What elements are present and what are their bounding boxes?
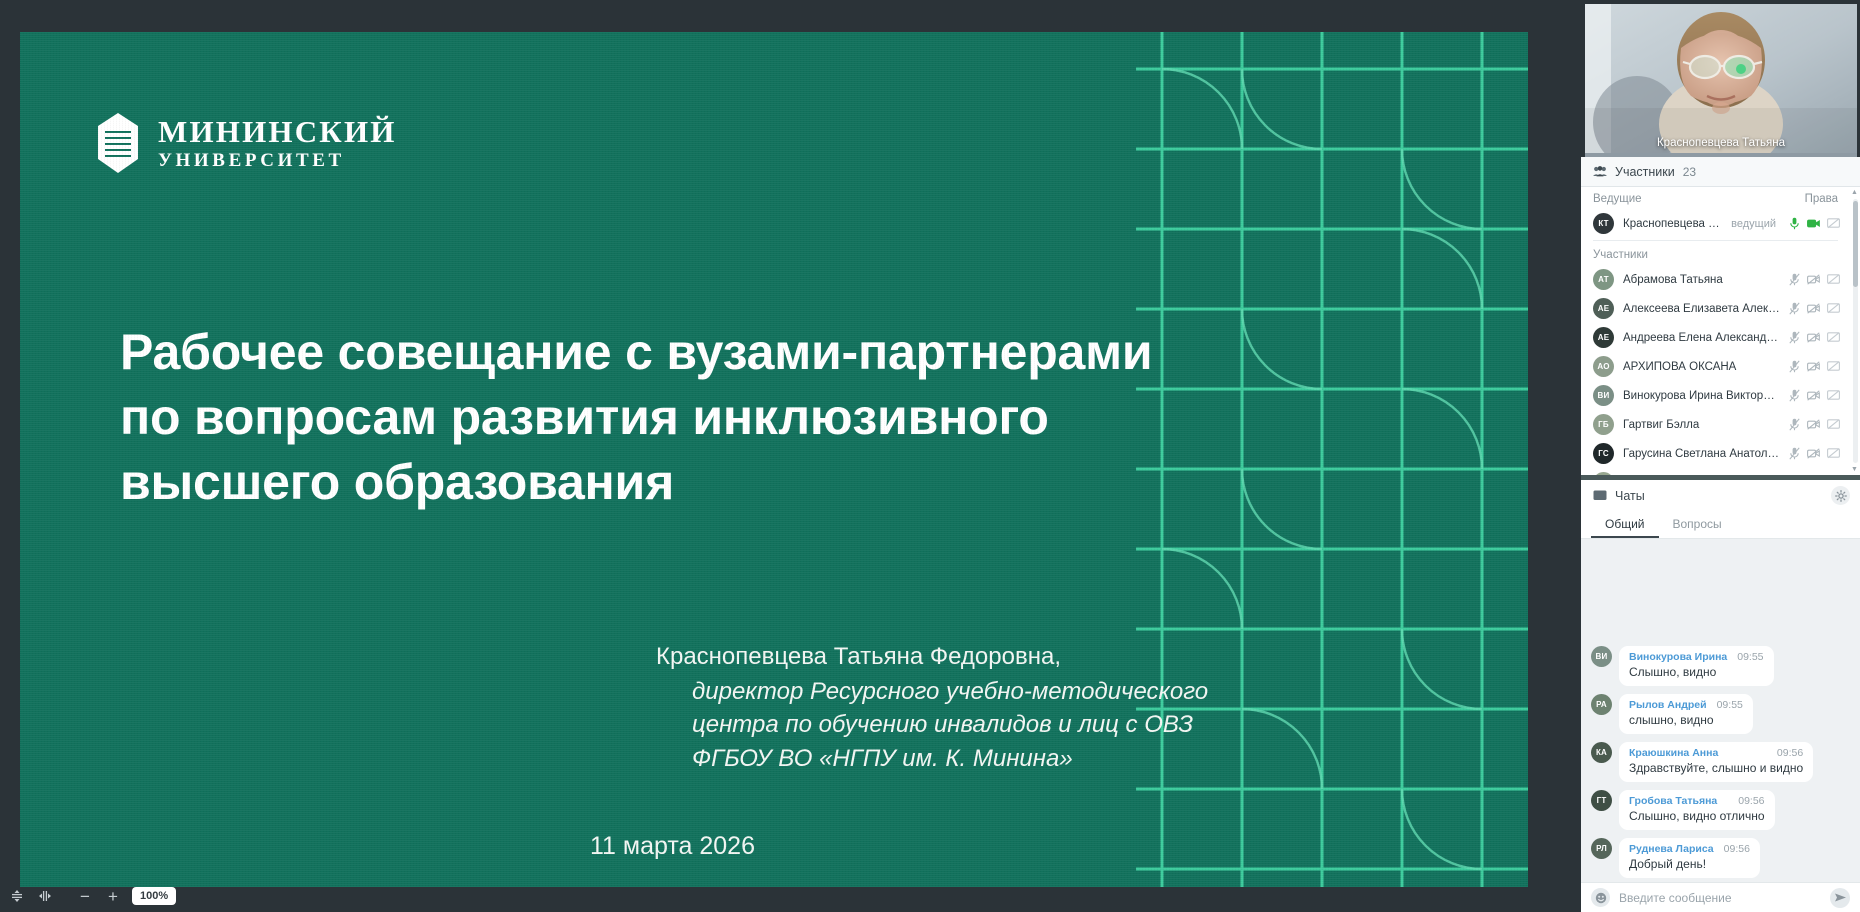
message-bubble: Руднева Лариса 09:56 Добрый день! <box>1619 838 1760 878</box>
message-time: 09:56 <box>1724 843 1750 855</box>
chat-header: Чаты <box>1581 480 1860 511</box>
scrollbar-thumb[interactable] <box>1853 201 1858 287</box>
mic-off-icon[interactable] <box>1789 418 1800 431</box>
chat-icon <box>1593 490 1607 502</box>
avatar: АЕ <box>1593 298 1614 319</box>
fit-width-icon[interactable] <box>34 885 56 907</box>
message-text: Добрый день! <box>1629 857 1750 872</box>
mic-off-icon[interactable] <box>1789 331 1800 344</box>
slide-viewer-toolbar: − + 100% <box>0 880 1580 912</box>
chat-tab-questions[interactable]: Вопросы <box>1659 511 1736 538</box>
participant-row[interactable]: ГА Гемранова Анастасия Дмитриев... <box>1581 468 1850 475</box>
chat-message: РА Рылов Андрей 09:55 слышно, видно <box>1591 694 1850 734</box>
message-author: Гробова Татьяна <box>1629 795 1717 807</box>
emoji-icon[interactable] <box>1591 888 1610 907</box>
participant-name: АРХИПОВА ОКСАНА <box>1623 361 1780 373</box>
chat-message: ГТ Гробова Татьяна 09:56 Слышно, видно о… <box>1591 790 1850 830</box>
participant-name: Гарусина Светлана Анатольевна <box>1623 448 1780 460</box>
message-time: 09:55 <box>1737 651 1763 663</box>
mic-off-icon[interactable] <box>1789 273 1800 286</box>
avatar: АО <box>1593 356 1614 377</box>
message-time: 09:55 <box>1717 699 1743 711</box>
camera-off-icon[interactable] <box>1807 390 1820 401</box>
avatar: РА <box>1591 694 1612 715</box>
right-sidebar: Краснопевцева Татьяна Участники 23 Ведущ… <box>1580 0 1860 912</box>
presenter-name: Краснопевцева Татьяна Федоровна, <box>656 640 1336 674</box>
rights-label: Права <box>1805 193 1838 205</box>
presenter-block: Краснопевцева Татьяна Федоровна, директо… <box>656 640 1336 775</box>
screen-share-off-icon[interactable] <box>1827 218 1840 229</box>
participants-title: Участники <box>1615 165 1675 179</box>
screen-share-off-icon[interactable] <box>1827 390 1840 401</box>
list-divider <box>1593 240 1838 241</box>
message-bubble: Рылов Андрей 09:55 слышно, видно <box>1619 694 1753 734</box>
avatar: АЕ <box>1593 327 1614 348</box>
chat-message: КА Краюшкина Анна 09:56 Здравствуйте, сл… <box>1591 742 1850 782</box>
avatar: ГС <box>1593 443 1614 464</box>
chat-input-row[interactable] <box>1581 882 1860 912</box>
participant-controls[interactable] <box>1789 389 1840 402</box>
participant-name: Абрамова Татьяна <box>1623 274 1780 286</box>
video-tile-name: Краснопевцева Татьяна <box>1585 137 1857 149</box>
participant-name: Алексеева Елизавета Алексеевна <box>1623 303 1780 315</box>
hosts-label: Ведущие <box>1593 193 1642 205</box>
message-bubble: Гробова Татьяна 09:56 Слышно, видно отли… <box>1619 790 1775 830</box>
zoom-in-button[interactable]: + <box>104 888 122 905</box>
mic-off-icon[interactable] <box>1789 302 1800 315</box>
participants-section-members: Участники <box>1581 243 1850 265</box>
mic-off-icon[interactable] <box>1789 360 1800 373</box>
chat-tabs[interactable]: ОбщийВопросы <box>1581 511 1860 539</box>
camera-off-icon[interactable] <box>1807 332 1820 343</box>
message-time: 09:56 <box>1738 795 1764 807</box>
screen-share-off-icon[interactable] <box>1827 274 1840 285</box>
avatar: КА <box>1591 742 1612 763</box>
mic-on-icon[interactable] <box>1789 217 1800 230</box>
camera-off-icon[interactable] <box>1807 303 1820 314</box>
chat-message: РЛ Руднева Лариса 09:56 Добрый день! <box>1591 838 1850 878</box>
gear-icon[interactable] <box>1831 486 1850 505</box>
participant-row[interactable]: АТ Абрамова Татьяна <box>1581 265 1850 294</box>
message-text: слышно, видно <box>1629 713 1743 728</box>
screen-share-off-icon[interactable] <box>1827 303 1840 314</box>
avatar: КТ <box>1593 213 1614 234</box>
participant-row[interactable]: АЕ Андреева Елена Александровна <box>1581 323 1850 352</box>
camera-off-icon[interactable] <box>1807 448 1820 459</box>
participant-row[interactable]: ГС Гарусина Светлана Анатольевна <box>1581 439 1850 468</box>
people-icon <box>1593 166 1607 177</box>
participants-section-hosts: Ведущие Права <box>1581 187 1850 209</box>
camera-off-icon[interactable] <box>1807 419 1820 430</box>
avatar: ВИ <box>1591 646 1612 667</box>
participant-row[interactable]: ГБ Гартвиг Бэлла <box>1581 410 1850 439</box>
message-bubble: Краюшкина Анна 09:56 Здравствуйте, слышн… <box>1619 742 1813 782</box>
participant-row[interactable]: АЕ Алексеева Елизавета Алексеевна <box>1581 294 1850 323</box>
message-time: 09:56 <box>1777 747 1803 759</box>
screen-share-off-icon[interactable] <box>1827 419 1840 430</box>
chat-panel: Чаты ОбщийВопросы ВИ <box>1581 475 1860 912</box>
message-author: Краюшкина Анна <box>1629 747 1718 759</box>
participant-controls[interactable] <box>1789 418 1840 431</box>
send-icon[interactable] <box>1830 888 1850 908</box>
participant-controls[interactable] <box>1789 360 1840 373</box>
participant-role: ведущий <box>1731 218 1776 230</box>
screen-share-off-icon[interactable] <box>1827 332 1840 343</box>
shield-book-emblem <box>96 112 140 174</box>
logo-title: МИНИНСКИЙ <box>158 116 397 148</box>
fit-height-icon[interactable] <box>6 885 28 907</box>
participant-name: Краснопевцева Татья... <box>1623 218 1722 230</box>
message-author: Руднева Лариса <box>1629 843 1714 855</box>
message-text: Слышно, видно <box>1629 665 1764 680</box>
participant-row[interactable]: АО АРХИПОВА ОКСАНА <box>1581 352 1850 381</box>
participant-name: Гартвиг Бэлла <box>1623 419 1780 431</box>
camera-off-icon[interactable] <box>1807 361 1820 372</box>
zoom-level-value[interactable]: 100% <box>132 887 176 905</box>
participant-controls[interactable] <box>1789 447 1840 460</box>
avatar: ВИ <box>1593 385 1614 406</box>
chat-messages[interactable]: ВИ Винокурова Ирина 09:55 Слышно, видно … <box>1581 539 1860 882</box>
avatar: РЛ <box>1591 838 1612 859</box>
message-author: Винокурова Ирина <box>1629 651 1727 663</box>
chat-title: Чаты <box>1615 489 1823 503</box>
participant-row-host[interactable]: КТ Краснопевцева Татья... ведущий <box>1581 209 1850 238</box>
participants-header: Участники 23 <box>1581 157 1860 187</box>
scroll-down-arrow[interactable]: ▼ <box>1851 466 1858 473</box>
message-author: Рылов Андрей <box>1629 699 1707 711</box>
meeting-screen: МИНИНСКИЙ УНИВЕРСИТЕТ Рабочее совещание … <box>0 0 1860 912</box>
message-bubble: Винокурова Ирина 09:55 Слышно, видно <box>1619 646 1774 686</box>
slide-stage: МИНИНСКИЙ УНИВЕРСИТЕТ Рабочее совещание … <box>0 0 1580 912</box>
camera-on-icon[interactable] <box>1807 218 1820 229</box>
presenter-role: директор Ресурсного учебно-методического… <box>656 675 1336 776</box>
participant-controls[interactable] <box>1789 302 1840 315</box>
avatar: ГА <box>1593 472 1614 475</box>
participant-controls[interactable] <box>1789 273 1840 286</box>
avatar: ГТ <box>1591 790 1612 811</box>
avatar: АТ <box>1593 269 1614 290</box>
mic-off-icon[interactable] <box>1789 389 1800 402</box>
participant-row[interactable]: ВИ Винокурова Ирина Викторовна <box>1581 381 1850 410</box>
avatar: ГБ <box>1593 414 1614 435</box>
chat-message-input[interactable] <box>1619 891 1821 905</box>
slide-headline: Рабочее совещание с вузами-партнерами по… <box>120 320 1210 515</box>
message-text: Здравствуйте, слышно и видно <box>1629 761 1803 776</box>
chat-tab-general[interactable]: Общий <box>1591 511 1659 538</box>
participant-controls[interactable] <box>1789 217 1840 230</box>
presentation-slide: МИНИНСКИЙ УНИВЕРСИТЕТ Рабочее совещание … <box>20 32 1528 887</box>
slide-date: 11 марта 2026 <box>590 832 755 861</box>
chat-message: ВИ Винокурова Ирина 09:55 Слышно, видно <box>1591 646 1850 686</box>
participants-list[interactable]: Ведущие ПраваКТ Краснопевцева Татья... в… <box>1581 187 1860 475</box>
scroll-up-arrow[interactable]: ▲ <box>1851 189 1858 196</box>
logo-subtitle: УНИВЕРСИТЕТ <box>158 151 397 170</box>
participant-name: Винокурова Ирина Викторовна <box>1623 390 1780 402</box>
participants-count: 23 <box>1683 165 1696 179</box>
screen-share-off-icon[interactable] <box>1827 361 1840 372</box>
camera-off-icon[interactable] <box>1807 274 1820 285</box>
university-logo: МИНИНСКИЙ УНИВЕРСИТЕТ <box>96 112 397 174</box>
speaker-video-tile[interactable]: Краснопевцева Татьяна <box>1581 0 1860 157</box>
members-label: Участники <box>1593 249 1648 261</box>
screen-share-off-icon[interactable] <box>1827 448 1840 459</box>
mic-off-icon[interactable] <box>1789 447 1800 460</box>
participant-controls[interactable] <box>1789 331 1840 344</box>
participant-name: Андреева Елена Александровна <box>1623 332 1780 344</box>
zoom-out-button[interactable]: − <box>76 888 94 905</box>
message-text: Слышно, видно отлично <box>1629 809 1765 824</box>
